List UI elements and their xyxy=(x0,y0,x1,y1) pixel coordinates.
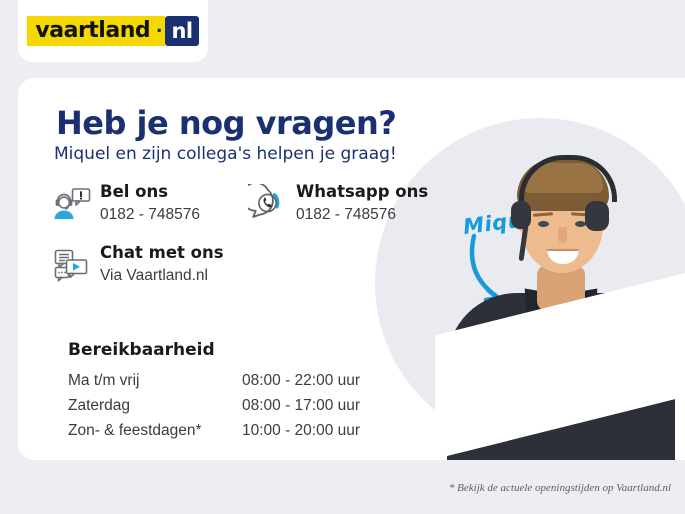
contact-call-title: Bel ons xyxy=(100,182,168,201)
contact-whatsapp-title: Whatsapp ons xyxy=(296,182,428,201)
contact-chat-title: Chat met ons xyxy=(100,243,224,262)
brand-logo-card[interactable]: vaartland · nl xyxy=(18,0,208,62)
page-subtitle: Miquel en zijn collega's helpen je graag… xyxy=(54,144,397,164)
headset-person-icon xyxy=(52,184,92,224)
logo-tld-block: nl xyxy=(165,16,198,46)
contact-item-whatsapp[interactable]: Whatsapp ons 0182 - 748576 xyxy=(248,182,448,226)
contact-chat-value[interactable]: Via Vaartland.nl xyxy=(100,266,224,287)
logo-dot-block: · xyxy=(156,16,165,46)
logo-tld: nl xyxy=(171,21,192,42)
contact-item-call[interactable]: Bel ons 0182 - 748576 xyxy=(52,182,248,226)
logo-dot: · xyxy=(156,20,163,42)
hours-table: Ma t/m vrij 08:00 - 22:00 uur Zaterdag 0… xyxy=(68,368,388,443)
hours-day: Ma t/m vrij xyxy=(68,368,242,393)
contact-whatsapp-value[interactable]: 0182 - 748576 xyxy=(296,205,428,226)
contact-chat-text: Chat met ons Via Vaartland.nl xyxy=(100,243,224,287)
contact-whatsapp-text: Whatsapp ons 0182 - 748576 xyxy=(296,182,428,226)
contact-row-1: Bel ons 0182 - 748576 Whats xyxy=(52,182,472,226)
hours-row: Zon- & feestdagen* 10:00 - 20:00 uur xyxy=(68,418,388,443)
contact-card: Heb je nog vragen? Miquel en zijn colleg… xyxy=(18,78,685,460)
contact-call-value[interactable]: 0182 - 748576 xyxy=(100,205,200,226)
hours-time: 10:00 - 20:00 uur xyxy=(242,418,360,443)
hours-day: Zaterdag xyxy=(68,393,242,418)
hours-day: Zon- & feestdagen* xyxy=(68,418,242,443)
logo-word-block: vaartland xyxy=(27,16,156,46)
contact-methods: Bel ons 0182 - 748576 Whats xyxy=(52,182,472,287)
hours-time: 08:00 - 22:00 uur xyxy=(242,368,360,393)
page-title: Heb je nog vragen? xyxy=(56,104,396,142)
whatsapp-icon xyxy=(248,184,288,224)
footnote: * Bekijk de actuele openingstijden op Va… xyxy=(449,482,671,494)
logo-word: vaartland xyxy=(35,20,150,42)
hours-title: Bereikbaarheid xyxy=(68,340,215,360)
hours-row: Ma t/m vrij 08:00 - 22:00 uur xyxy=(68,368,388,393)
contact-row-2: Chat met ons Via Vaartland.nl xyxy=(52,243,472,287)
contact-item-chat[interactable]: Chat met ons Via Vaartland.nl xyxy=(52,243,312,287)
chat-bubbles-icon xyxy=(52,245,92,285)
brand-logo: vaartland · nl xyxy=(27,16,198,46)
contact-call-text: Bel ons 0182 - 748576 xyxy=(100,182,200,226)
hours-row: Zaterdag 08:00 - 17:00 uur xyxy=(68,393,388,418)
hours-time: 08:00 - 17:00 uur xyxy=(242,393,360,418)
employee-photo: vaartland nl daar jouw wen plezier xyxy=(435,115,685,460)
